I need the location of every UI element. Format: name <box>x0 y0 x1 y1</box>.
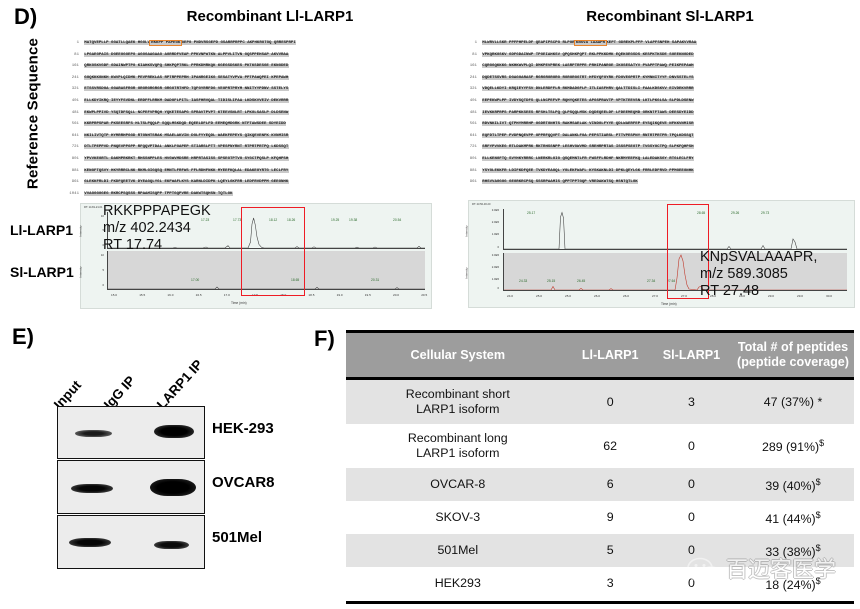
cell-cellular-system: 501Mel <box>346 534 570 567</box>
blot-hek293 <box>57 406 205 459</box>
sequence-row: 561RDVNKILIVT QTPHYMRRHP GGDRTGNHTS RAKM… <box>455 119 855 131</box>
cell-sl-larp1: 3 <box>651 379 732 425</box>
sequence-row-number: 641 <box>57 131 79 143</box>
right-chromatogram-callout: KNpSVALAAAPR, m/z 589.3085 RT 27.48 <box>700 249 817 300</box>
sequence-row: 801ELLKENGFTQ SVYHKYRRRC LNERKRLGIG QSQE… <box>455 154 855 166</box>
sequence-text: NKILIVTQTP HYMRRHPGGD RTGNHTSRAK MSAELAK… <box>84 134 289 138</box>
x-axis-tick-label: 17.0 <box>224 293 230 297</box>
x-axis-tick-label: 25.0 <box>565 294 571 298</box>
sequence-row-number: 961 <box>455 177 477 189</box>
sequence-text: ELLKDYIKRQ IEYYFSVDNL ERDFFLRRKM DADGFLP… <box>84 99 289 103</box>
right-chrom-top-ytick-2: 2.0E5 <box>471 220 499 224</box>
sequence-text: GLEKKFRLDI FKDFQEETVK DYEAGQLYGL EKFWAFL… <box>84 180 289 184</box>
cell-sl-larp1: 0 <box>651 468 732 501</box>
left-chrom-top-ytick-10: 10 <box>86 214 104 218</box>
cell-cellular-system: OVCAR-8 <box>346 468 570 501</box>
cellular-system-line1: HEK293 <box>348 576 568 591</box>
sequence-row-number: 721 <box>455 142 477 154</box>
footnote-symbol: $ <box>816 543 821 553</box>
sequence-row-number: 161 <box>455 61 477 73</box>
band-ovcar8-larp1ip <box>150 479 196 496</box>
sequence-row: 241GGQKKKGNKH KWVPLQIDMK PEVPREKLAS RPTR… <box>57 73 427 85</box>
band-hek293-input <box>75 430 112 437</box>
sequence-row-number: 481 <box>455 108 477 120</box>
sequence-text: MLWRVLLSKR PPFPHPELDF QEAPIPSCPG RLPGR <box>482 41 575 45</box>
sequence-row-number: 961 <box>57 177 79 189</box>
highlighted-peptide: RKKPP PAPEGK <box>150 41 181 45</box>
sequence-text: QRKGSKVGDF GDAINWPTPG KIAHKSVQPQ SHKPQPT… <box>84 64 289 68</box>
sequence-text: GGQKKKGNKH KWVPLQIDMK PEVPREKLAS RPTRPPE… <box>84 76 289 80</box>
sequence-text: RHSVVAGGGG GEGRKRCPSQ SSSRPAAMIS QPPTPPT… <box>482 180 638 184</box>
table-row: OVCAR-86039 (40%)$ <box>346 468 854 501</box>
sequence-row: 481IEVKKRPRPS PARPKKSEES RFSHLTSLPQ QLPS… <box>455 108 855 120</box>
panel-d: D) Recombinant Ll-LARP1 Recombinant Sl-L… <box>0 0 860 320</box>
sequence-text: CQRGGQKKKG NKHKWVPLQI DMKPEVPREK LASRPTR… <box>482 64 694 68</box>
left-chrom-red-highlight-box <box>241 207 305 296</box>
right-callout-line1: KNpSVALAAAPR, <box>700 249 817 266</box>
sequence-text: IEVKKRPRPS PARPKKSEES RFSHLTSLPQ QLPSQQL… <box>482 111 694 115</box>
cell-ll-larp1: 6 <box>570 468 651 501</box>
peak-retention-time-label: 29.26 <box>731 211 739 215</box>
right-chrom-bot-ytick-3: 3.0E5 <box>471 253 499 257</box>
table-row: Recombinant longLARP1 isoform620289 (91%… <box>346 424 854 468</box>
footnote-symbol: $ <box>819 438 824 448</box>
sequence-text: LPGAEGPAIS DGEEGGGEPG AGGGAAGAAG AGRRDFV… <box>84 53 289 57</box>
sequence-row-number: 81 <box>455 50 477 62</box>
x-axis-tick-label: 15.0 <box>111 293 117 297</box>
sequence-text: ETSSVRSDGA GGARASFRGR GRGRGRGRGR GRGGTRT… <box>84 87 289 91</box>
footnote-symbol: $ <box>816 477 821 487</box>
sequence-row-number: 641 <box>455 131 477 143</box>
peptide-summary-table: Cellular System Ll-LARP1 Sl-LARP1 Total … <box>346 330 854 604</box>
cell-total-peptides: 47 (37%) * <box>732 379 854 425</box>
sequence-row: 81VPKQRKGSKV GDFGDAINWP TPGEIAHKSV QPQSH… <box>455 50 855 62</box>
sequence-row-number: 321 <box>455 84 477 96</box>
left-chrom-ylabel-bottom: Intensity <box>79 266 83 277</box>
left-sequence-title: Recombinant Ll-LARP1 <box>120 8 420 25</box>
blot-label-501mel: 501Mel <box>212 529 262 546</box>
cell-total-peptides: 18 (24%)$ <box>732 567 854 602</box>
blot-ovcar8 <box>57 460 205 514</box>
lane-label-larp1-ip: LARP1 IP <box>154 357 206 412</box>
sequence-row-number: 1 <box>57 38 79 50</box>
cellular-system-line1: SKOV-3 <box>348 510 568 525</box>
sequence-text: YSYGLEKKFR LDIFKDFQEE TVKDYEAGQL YGLEKFW… <box>482 169 694 173</box>
left-chrom-bot-ytick-5: 5 <box>86 268 104 272</box>
panel-e: E) Input IgG IP LARP1 IP HEK-293 OVCAR8 … <box>0 322 310 609</box>
right-chrom-top-ytick-0: 0 <box>471 245 499 249</box>
cell-ll-larp1: 62 <box>570 424 651 468</box>
sequence-row: 401EEPEKWPLPP IVDYSQTDFS QLLNCPEFVP RQHY… <box>455 96 855 108</box>
x-axis-tick-label: 27.0 <box>652 294 658 298</box>
right-chrom-top-ytick-1: 1.0E5 <box>471 232 499 236</box>
blot-label-hek293: HEK-293 <box>212 420 274 437</box>
sequence-row: 161CQRGGQKKKG NKHKWVPLQI DMKPEVPREK LASR… <box>455 61 855 73</box>
right-chrom-xlabel: Time (min) <box>661 302 677 306</box>
sequence-text: DQDETSSVRS DGAGGARASF RGRGRGRGRG RGRGRGG… <box>482 76 694 80</box>
footnote-symbol: $ <box>816 510 821 520</box>
sequence-row: 321VDQELLKDYI KRQIEYYFSV DNLERDFFLR RKMD… <box>455 84 855 96</box>
sequence-row-number: 241 <box>57 73 79 85</box>
cell-sl-larp1: 0 <box>651 424 732 468</box>
sequence-text: VVAGGGGGEG RKRCPSQSSS RPAAMISQPP TPPTGQP… <box>84 192 233 196</box>
x-axis-tick-label: 24.0 <box>507 294 513 298</box>
sequence-text: EEPEKWPLPP IVDYSQTDFS QLLNCPEFVP RQHYQKE… <box>482 99 694 103</box>
sequence-text: ELLKENGFTQ SVYHKYRRRC LNERKRLGIG QSQEMNT… <box>482 157 694 161</box>
right-chrom-bot-ytick-0: 0 <box>471 286 499 290</box>
sequence-row: 881KENGFTQSVY HKYRRRCLNK RKMLGIGQSQ EMNT… <box>57 166 427 178</box>
sequence-text: DTLTPEPPVD PNQEVPPGPP RFQQVPTDAL ANKLFGA… <box>84 145 289 149</box>
table-row: Recombinant shortLARP1 isoform0347 (37%)… <box>346 379 854 425</box>
table-row: 501Mel5033 (38%)$ <box>346 534 854 567</box>
right-callout-line3: RT 27.48 <box>700 283 817 300</box>
col-header-total-line2: (peptide coverage) <box>734 355 852 370</box>
sequence-row: 1MLWRVLLSKR PPFPHPELDF QEAPIPSCPG RLPGRK… <box>455 38 855 50</box>
cellular-system-line1: OVCAR-8 <box>348 477 568 492</box>
sequence-text: KKRPRPSPAR PKSEESRFS HLTSLPQQLP SQQLMSKD… <box>84 122 286 126</box>
sequence-row-number: 1 <box>455 38 477 50</box>
table-row: HEK2933018 (24%)$ <box>346 567 854 602</box>
cellular-system-line2: LARP1 isoform <box>348 446 568 461</box>
blot-label-ovcar8: OVCAR8 <box>212 474 275 491</box>
right-chrom-ylabel-top: Intensity <box>465 225 469 236</box>
left-callout-line3: RT 17.74 <box>103 237 211 254</box>
right-chrom-top-ytick-3: 3.0E5 <box>471 208 499 212</box>
band-ovcar8-input <box>71 484 113 493</box>
sequence-text: EQFDTLTPEP PVDPNQEVPP GPPRFQQVPT DALANKL… <box>482 134 694 138</box>
peak-retention-time-label: 24.33 <box>519 279 527 283</box>
cell-ll-larp1: 9 <box>570 501 651 534</box>
panel-f: F) Cellular System Ll-LARP1 Sl-LARP1 Tot… <box>310 322 860 609</box>
cell-cellular-system: Recombinant shortLARP1 isoform <box>346 379 570 425</box>
left-chrom-ylabel-top: Intensity <box>79 225 83 236</box>
left-sequence-block: 1MATQVEPLLP GGATLLQAEK HGGLVRKKPP PAPEGK… <box>57 38 427 200</box>
sequence-row: 881YSYGLEKKFR LDIFKDFQEE TVKDYEAGQL YGLE… <box>455 166 855 178</box>
right-chrom-bot-ytick-2: 2.0E5 <box>471 265 499 269</box>
cell-total-peptides: 33 (38%)$ <box>732 534 854 567</box>
cell-cellular-system: SKOV-3 <box>346 501 570 534</box>
peak-retention-time-label: 25.15 <box>547 279 555 283</box>
sequence-row-number: 561 <box>455 119 477 131</box>
cellular-system-line2: LARP1 isoform <box>348 402 568 417</box>
table-row: SKOV-39041 (44%)$ <box>346 501 854 534</box>
cell-total-peptides: 39 (40%)$ <box>732 468 854 501</box>
col-header-total-peptides: Total # of peptides (peptide coverage) <box>732 332 854 379</box>
cell-ll-larp1: 5 <box>570 534 651 567</box>
cell-sl-larp1: 0 <box>651 567 732 602</box>
sequence-row: 241DQDETSSVRS DGAGGARASF RGRGRGRGRG RGRG… <box>455 73 855 85</box>
left-callout-line1: RKKPPPAPEGK <box>103 203 211 220</box>
sequence-row: 81LPGAEGPAIS DGEEGGGEPG AGGGAAGAAG AGRRD… <box>57 50 427 62</box>
x-axis-tick-label: 19.5 <box>365 293 371 297</box>
left-chrom-top-ytick-5: 5 <box>86 228 104 232</box>
x-axis-tick-label: 30.0 <box>826 294 832 298</box>
right-chrom-ylabel-bottom: Intensity <box>465 267 469 278</box>
sequence-row: 561KKRPRPSPAR PKSEESRFS HLTSLPQQLP SQQLM… <box>57 119 427 131</box>
sequence-text: KEPT GDREKPLPFP VLAPFSNPEH SAPAKVVRAA <box>606 41 696 45</box>
band-501mel-larp1ip <box>154 541 189 549</box>
col-header-ll-larp1: Ll-LARP1 <box>570 332 651 379</box>
sequence-row: 721DTLTPEPPVD PNQEVPPGPP RFQQVPTDAL ANKL… <box>57 142 427 154</box>
panel-e-letter: E) <box>12 324 34 350</box>
peak-retention-time-label: 19.25 <box>331 218 339 222</box>
sequence-row-number: 481 <box>57 108 79 120</box>
cell-cellular-system: Recombinant longLARP1 isoform <box>346 424 570 468</box>
sequence-row: 641EQFDTLTPEP PVDPNQEVPP GPPRFQQVPT DALA… <box>455 131 855 143</box>
left-chromatogram-header: RT: 14.81-21.01 <box>84 206 102 209</box>
x-axis-tick-label: 20.5 <box>421 293 427 297</box>
left-callout-line2: m/z 402.2434 <box>103 220 211 237</box>
cellular-system-line1: Recombinant long <box>348 431 568 446</box>
right-callout-line2: m/z 589.3085 <box>700 266 817 283</box>
peak-retention-time-label: 20.31 <box>371 278 379 282</box>
left-chrom-bot-ytick-10: 10 <box>86 253 104 257</box>
sequence-text: RDVNKILIVT QTPHYMRRHP GGDRTGNHTS RAKMSAE… <box>482 122 694 126</box>
right-sequence-title: Recombinant Sl-LARP1 <box>520 8 820 25</box>
peak-retention-time-label: 19.38 <box>349 218 357 222</box>
sequence-row-number: 881 <box>455 166 477 178</box>
cell-ll-larp1: 3 <box>570 567 651 602</box>
peak-retention-time-label: 17.00 <box>191 278 199 282</box>
sequence-text: EKWPLPPIVD YSQTDFSQLL NCPEFVPRQH YQKETES… <box>84 111 289 115</box>
table-header-row: Cellular System Ll-LARP1 Sl-LARP1 Total … <box>346 332 854 379</box>
band-501mel-input <box>69 538 111 547</box>
sequence-row-number: 801 <box>57 154 79 166</box>
cellular-system-line1: 501Mel <box>348 543 568 558</box>
cellular-system-line1: Recombinant short <box>348 387 568 402</box>
sequence-row-number: 241 <box>455 73 477 85</box>
sequence-row-number: 321 <box>57 84 79 96</box>
right-sequence-block: 1MLWRVLLSKR PPFPHPELDF QEAPIPSCPG RLPGRK… <box>455 38 855 189</box>
left-chrom-bot-ytick-0: 0 <box>86 283 104 287</box>
ll-larp1-row-label: Ll-LARP1 <box>10 222 73 238</box>
cell-ll-larp1: 0 <box>570 379 651 425</box>
col-header-sl-larp1: Sl-LARP1 <box>651 332 732 379</box>
x-axis-tick-label: 20.0 <box>393 293 399 297</box>
sequence-text: MATQVEPLLP GGATLLQAEK HGGLV <box>84 41 150 45</box>
peak-retention-time-label: 20.54 <box>393 218 401 222</box>
sequence-row-number: 1041 <box>57 189 79 201</box>
col-header-cellular-system: Cellular System <box>346 332 570 379</box>
panel-d-letter: D) <box>14 4 37 30</box>
cell-total-peptides: 289 (91%)$ <box>732 424 854 468</box>
sequence-row-number: 401 <box>57 96 79 108</box>
sequence-row-number: 401 <box>455 96 477 108</box>
reference-sequence-axis-label: Reference Sequence <box>25 29 42 199</box>
cell-total-peptides: 41 (44%)$ <box>732 501 854 534</box>
sequence-row: 641NKILIVTQTP HYMRRHPGGD RTGNHTSRAK MSAE… <box>57 131 427 143</box>
sequence-text: VPKQRKGSKV GDFGDAINWP TPGEIAHKSV QPQSHKP… <box>482 53 694 57</box>
sequence-row-number: 161 <box>57 61 79 73</box>
sequence-text: YPVVKEGRTL DAKMPRKRKT RHSSNPPLES HVGWVMD… <box>84 157 289 161</box>
sequence-row: 961GLEKKFRLDI FKDFQEETVK DYEAGQLYGL EKFW… <box>57 177 427 189</box>
x-axis-tick-label: 26.0 <box>623 294 629 298</box>
footnote-symbol: $ <box>816 576 821 586</box>
right-chrom-bot-ytick-1: 1.0E5 <box>471 277 499 281</box>
col-header-total-line1: Total # of peptides <box>734 340 852 355</box>
peak-retention-time-label: 25.17 <box>527 211 535 215</box>
sequence-row-number: 81 <box>57 50 79 62</box>
sequence-row-number: 881 <box>57 166 79 178</box>
sl-larp1-row-label: Sl-LARP1 <box>10 264 74 280</box>
x-axis-tick-label: 15.5 <box>139 293 145 297</box>
x-axis-tick-label: 18.5 <box>308 293 314 297</box>
peak-retention-time-label: 26.45 <box>577 279 585 283</box>
sequence-row: 481EKWPLPPIVD YSQTDFSQLL NCPEFVPRQH YQKE… <box>57 108 427 120</box>
right-chromatogram-header: RT: 23.50-30.20 <box>472 203 490 206</box>
sequence-row: 401ELLKDYIKRQ IEYYFSVDNL ERDFFLRRKM DADG… <box>57 96 427 108</box>
blot-501mel <box>57 515 205 569</box>
sequence-row-number: 561 <box>57 119 79 131</box>
sequence-row: 801YPVVKEGRTL DAKMPRKRKT RHSSNPPLES HVGW… <box>57 154 427 166</box>
sequence-row: 961RHSVVAGGGG GEGRKRCPSQ SSSRPAAMIS QPPT… <box>455 177 855 189</box>
sequence-text: GEPG PNDVRSGEPD GSARRPRPPC AKPHKRGTGQ QR… <box>181 41 296 45</box>
peak-retention-time-label: 29.73 <box>761 211 769 215</box>
cell-sl-larp1: 0 <box>651 534 732 567</box>
sequence-row-number: 721 <box>57 142 79 154</box>
left-chrom-top-ytick-0: 0 <box>86 243 104 247</box>
panel-f-letter: F) <box>314 326 335 352</box>
cell-sl-larp1: 0 <box>651 501 732 534</box>
sequence-row: 321ETSSVRSDGA GGARASFRGR GRGRGRGRGR GRGG… <box>57 84 427 96</box>
sequence-row-number: 801 <box>455 154 477 166</box>
x-axis-tick-label: 25.0 <box>536 294 542 298</box>
highlighted-peptide: KNSVA LAAAPR <box>575 41 606 45</box>
x-axis-tick-label: 26.0 <box>594 294 600 298</box>
cell-cellular-system: HEK293 <box>346 567 570 602</box>
band-hek293-larp1ip <box>154 425 194 438</box>
sequence-text: KENGFTQSVY HKYRRRCLNK RKMLGIGQSQ EMNTLFR… <box>84 169 289 173</box>
sequence-row: 161QRKGSKVGDF GDAINWPTPG KIAHKSVQPQ SHKP… <box>57 61 427 73</box>
sequence-text: VDQELLKDYI KRQIEYYFSV DNLERDFFLR RKMDADG… <box>482 87 694 91</box>
peak-retention-time-label: 27.34 <box>647 279 655 283</box>
x-axis-tick-label: 16.5 <box>196 293 202 297</box>
sequence-row: 1041VVAGGGGGEG RKRCPSQSSS RPAAMISQPP TPP… <box>57 189 427 201</box>
left-chrom-xlabel: Time (min) <box>231 301 247 305</box>
sequence-row: 1MATQVEPLLP GGATLLQAEK HGGLVRKKPP PAPEGK… <box>57 38 427 50</box>
x-axis-tick-label: 19.0 <box>337 293 343 297</box>
x-axis-tick-label: 16.0 <box>167 293 173 297</box>
sequence-text: SRFYPVVKEG RTLDAKMPRK RKTRHSSNPP LESHVGW… <box>482 145 694 149</box>
sequence-row: 721SRFYPVVKEG RTLDAKMPRK RKTRHSSNPP LESH… <box>455 142 855 154</box>
left-chromatogram-callout: RKKPPPAPEGK m/z 402.2434 RT 17.74 <box>103 203 211 254</box>
